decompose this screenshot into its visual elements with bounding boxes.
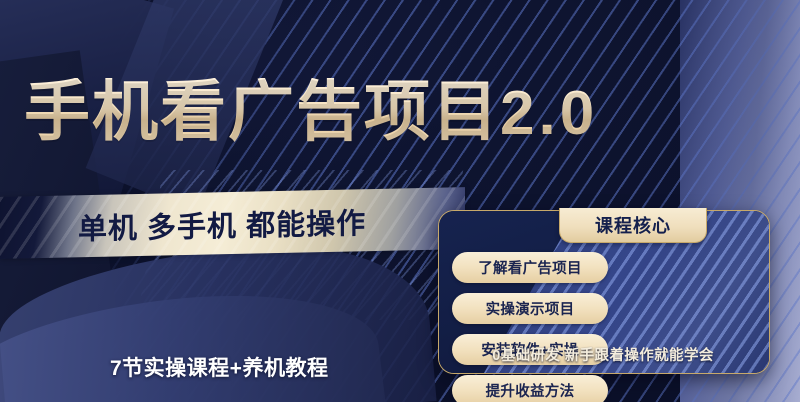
- promo-poster: 手机看广告项目2.0 单机 多手机 都能操作 课程核心 了解看广告项目 实操演示…: [0, 0, 800, 402]
- subtitle: 单机 多手机 都能操作: [78, 200, 366, 248]
- course-pill-1[interactable]: 了解看广告项目: [452, 252, 608, 283]
- course-core-footer-text: 0基础研发 新手跟着操作就能学会: [438, 344, 768, 365]
- course-pill-4[interactable]: 提升收益方法: [452, 375, 608, 402]
- course-core-tab-badge: 课程核心: [559, 208, 707, 243]
- page-title: 手机看广告项目2.0: [24, 78, 598, 145]
- course-core-pill-list: 了解看广告项目 实操演示项目 安装软件+实操 提升收益方法: [452, 252, 756, 402]
- title-main-text: 手机看广告项目: [24, 74, 500, 148]
- course-pill-2[interactable]: 实操演示项目: [452, 293, 608, 324]
- title-version-text: 2.0: [500, 79, 598, 148]
- bottom-tagline: 7节实操课程+养机教程: [110, 352, 328, 382]
